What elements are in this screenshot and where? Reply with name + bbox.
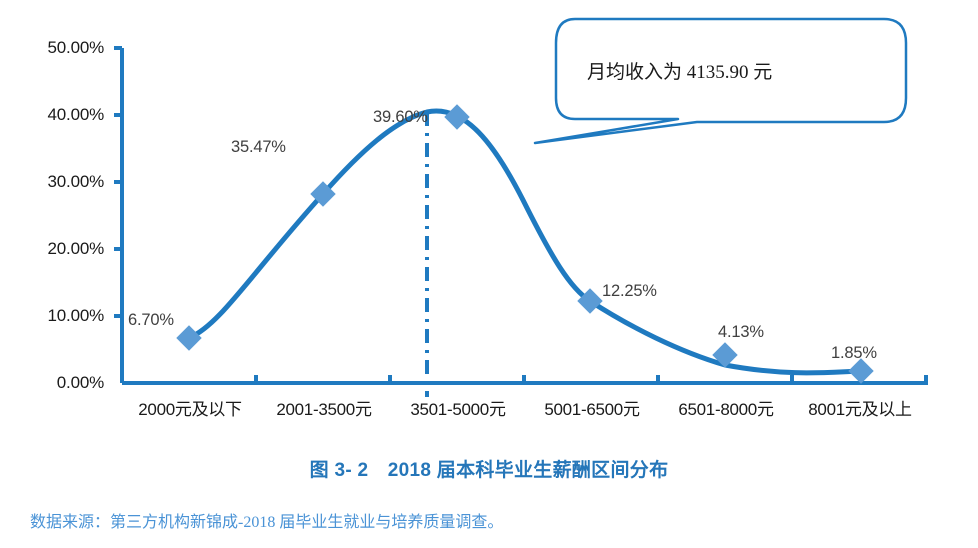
x-tick-label-2001-3500: 2001-3500元 bbox=[257, 395, 391, 420]
line-chart-svg bbox=[0, 0, 978, 440]
x-tick-label-8001-and-above: 8001元及以上 bbox=[793, 395, 927, 420]
figure-source-note: 数据来源：第三方机构新锦成-2018 届毕业生就业与培养质量调查。 bbox=[30, 508, 503, 532]
x-tick-label-5001-6500: 5001-6500元 bbox=[525, 395, 659, 420]
x-tick-label-3501-5000: 3501-5000元 bbox=[391, 395, 525, 420]
data-label-3501-5000: 39.60% bbox=[373, 108, 428, 127]
data-label-8001-and-above: 1.85% bbox=[831, 344, 877, 363]
x-tick-label-6501-8000: 6501-8000元 bbox=[659, 395, 793, 420]
data-label-2000-and-below: 6.70% bbox=[128, 311, 174, 330]
y-tick-label: 40.00% bbox=[8, 105, 104, 125]
data-label-6501-8000: 4.13% bbox=[718, 323, 764, 342]
callout-label: 月均收入为 4135.90 元 bbox=[587, 57, 772, 84]
data-point-marker[interactable] bbox=[176, 325, 201, 350]
y-tick-label: 10.00% bbox=[8, 306, 104, 326]
chart-plot-area: 50.00% 40.00% 30.00% 20.00% 10.00% 0.00%… bbox=[0, 0, 978, 440]
y-tick-label: 30.00% bbox=[8, 172, 104, 192]
data-point-marker[interactable] bbox=[444, 104, 469, 129]
y-tick-label: 0.00% bbox=[8, 373, 104, 393]
figure-container: 50.00% 40.00% 30.00% 20.00% 10.00% 0.00%… bbox=[0, 0, 978, 548]
data-label-5001-6500: 12.25% bbox=[602, 282, 657, 301]
y-tick-label: 20.00% bbox=[8, 239, 104, 259]
y-tick-label: 50.00% bbox=[8, 38, 104, 58]
figure-title: 图 3- 2 2018 届本科毕业生薪酬区间分布 bbox=[0, 455, 978, 482]
data-label-2001-3500: 35.47% bbox=[231, 138, 286, 157]
x-tick-label-2000-and-below: 2000元及以下 bbox=[123, 395, 257, 420]
